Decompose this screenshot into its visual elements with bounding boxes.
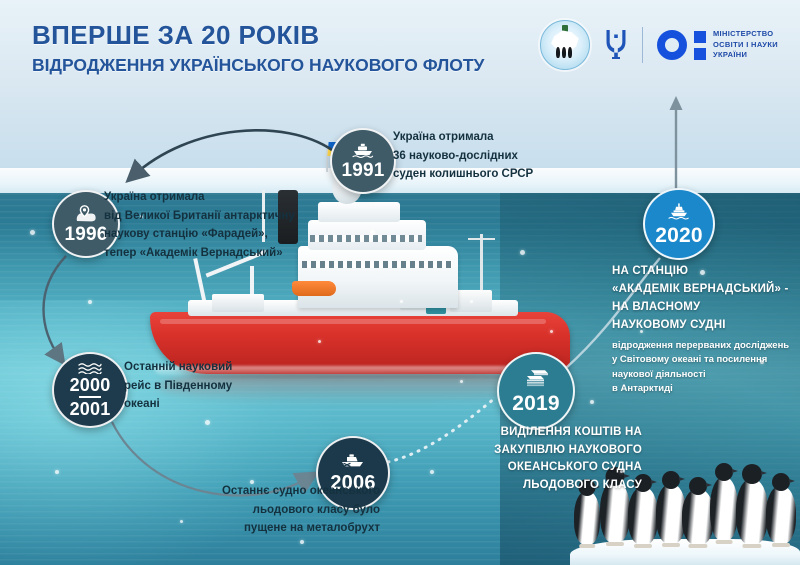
timeline-year-label: 2020 [655, 225, 703, 246]
timeline-text-line: ОКЕАНСЬКОГО СУДНА [446, 459, 642, 477]
timeline-text-line: льодового класу було [150, 501, 380, 520]
timeline-text-1996: Україна отримала від Великої Британії ан… [104, 188, 354, 263]
timeline-text-line: тепер «Академік Вернадський» [104, 244, 354, 263]
timeline-text-line: рейс в Південному [124, 377, 264, 396]
timeline-text-line: у Світовому океані та посилення [612, 353, 800, 367]
timeline-text-line: ЗАКУПІВЛЮ НАУКОВОГО [446, 442, 642, 460]
timeline-text-line: суден колишнього СРСР [393, 165, 578, 184]
ministry-line-1: МІНІСТЕРСТВО [713, 29, 774, 38]
timeline-text-line: ЛЬОДОВОГО КЛАСУ [446, 477, 642, 495]
lifeboat [292, 281, 336, 296]
ministry-line-3: УКРАЇНИ [713, 50, 747, 59]
timeline-year-label: 2019 [512, 393, 560, 414]
timeline-text-line: пущене на металобрухт [150, 519, 380, 538]
penguin [766, 486, 796, 544]
timeline-text-2006: Останнє судно океанського льодового клас… [150, 482, 380, 538]
ship-icon [352, 143, 374, 158]
logo-bar: МІНІСТЕРСТВО ОСВІТИ І НАУКИ УКРАЇНИ [540, 20, 778, 70]
timeline-text-2019: ВИДІЛЕННЯ КОШТІВ НА ЗАКУПІВЛЮ НАУКОВОГО … [446, 424, 642, 495]
timeline-text-line: НАУКОВОМУ СУДНІ [612, 316, 800, 334]
penguin [736, 479, 768, 545]
antarctic-center-logo-icon [540, 20, 590, 70]
timeline-text-line: ВИДІЛЕННЯ КОШТІВ НА [446, 424, 642, 442]
year-range-separator [79, 396, 101, 398]
timeline-year-label-start: 2000 [70, 376, 111, 394]
research-vessel-icon [668, 203, 690, 221]
ministry-line-2: ОСВІТИ І НАУКИ [713, 40, 778, 49]
timeline-text-line: від Великої Британії антарктичну [104, 207, 354, 226]
ministry-ring-icon [657, 30, 687, 60]
timeline-text-line: НА СТАНЦІЮ [612, 262, 800, 280]
timeline-text-line: Україна отримала [393, 128, 578, 147]
timeline-text-line: НА ВЛАСНОМУ [612, 298, 800, 316]
ministry-squares-icon [694, 31, 706, 60]
poster-header: ВПЕРШЕ ЗА 20 РОКІВ ВІДРОДЖЕННЯ УКРАЇНСЬК… [32, 22, 502, 76]
map-pin-icon [73, 205, 99, 222]
timeline-text-line: Останній науковий [124, 358, 264, 377]
timeline-text-line: Останнє судно океанського [150, 482, 380, 501]
timeline-text-line: наукову станцію «Фарадей», [104, 225, 354, 244]
timeline-node-2020[interactable]: 2020 [643, 188, 715, 260]
timeline-text-line: 36 науково-дослідних [393, 147, 578, 166]
waves-icon [78, 362, 102, 374]
page-title: ВПЕРШЕ ЗА 20 РОКІВ [32, 22, 502, 50]
deck-container-forward [212, 294, 264, 312]
timeline-text-2020: НА СТАНЦІЮ «АКАДЕМІК ВЕРНАДСЬКИЙ» - НА В… [612, 262, 800, 396]
timeline-body-2020: відродження перерваних досліджень у Світ… [612, 339, 800, 397]
timeline-text-line: відродження перерваних досліджень [612, 339, 800, 353]
timeline-text-line: Україна отримала [104, 188, 354, 207]
timeline-headline-2020: НА СТАНЦІЮ «АКАДЕМІК ВЕРНАДСЬКИЙ» - НА В… [612, 262, 800, 335]
ministry-logo-text: МІНІСТЕРСТВО ОСВІТИ І НАУКИ УКРАЇНИ [713, 29, 778, 62]
timeline-year-label: 1991 [341, 161, 384, 180]
page-subtitle: ВІДРОДЖЕННЯ УКРАЇНСЬКОГО НАУКОВОГО ФЛОТУ [32, 55, 502, 76]
penguin [628, 487, 658, 545]
penguin [710, 477, 738, 541]
penguin [574, 491, 600, 545]
timeline-year-label-end: 2001 [70, 400, 111, 418]
timeline-text-line: «АКАДЕМІК ВЕРНАДСЬКИЙ» - [612, 280, 800, 298]
timeline-node-1991[interactable]: 1991 [330, 128, 396, 194]
timeline-text-line: наукової діяльності [612, 368, 800, 382]
timeline-text-line: в Антарктиді [612, 382, 800, 396]
trident-icon [604, 28, 628, 62]
timeline-text-2000-2001: Останній науковий рейс в Південному океа… [124, 358, 264, 414]
infographic-poster: ВПЕРШЕ ЗА 20 РОКІВ ВІДРОДЖЕННЯ УКРАЇНСЬК… [0, 0, 800, 565]
money-stack-icon [523, 369, 549, 389]
timeline-node-2000-2001[interactable]: 2000 2001 [52, 352, 128, 428]
ministry-logo: МІНІСТЕРСТВО ОСВІТИ І НАУКИ УКРАЇНИ [657, 29, 778, 62]
timeline-node-2019[interactable]: 2019 [497, 352, 575, 430]
scrapped-ship-icon [340, 453, 366, 469]
logo-divider [642, 27, 643, 63]
timeline-year-label: 1996 [64, 225, 107, 244]
timeline-text-1991: Україна отримала 36 науково-дослідних су… [393, 128, 578, 184]
timeline-text-line: океані [124, 395, 264, 414]
